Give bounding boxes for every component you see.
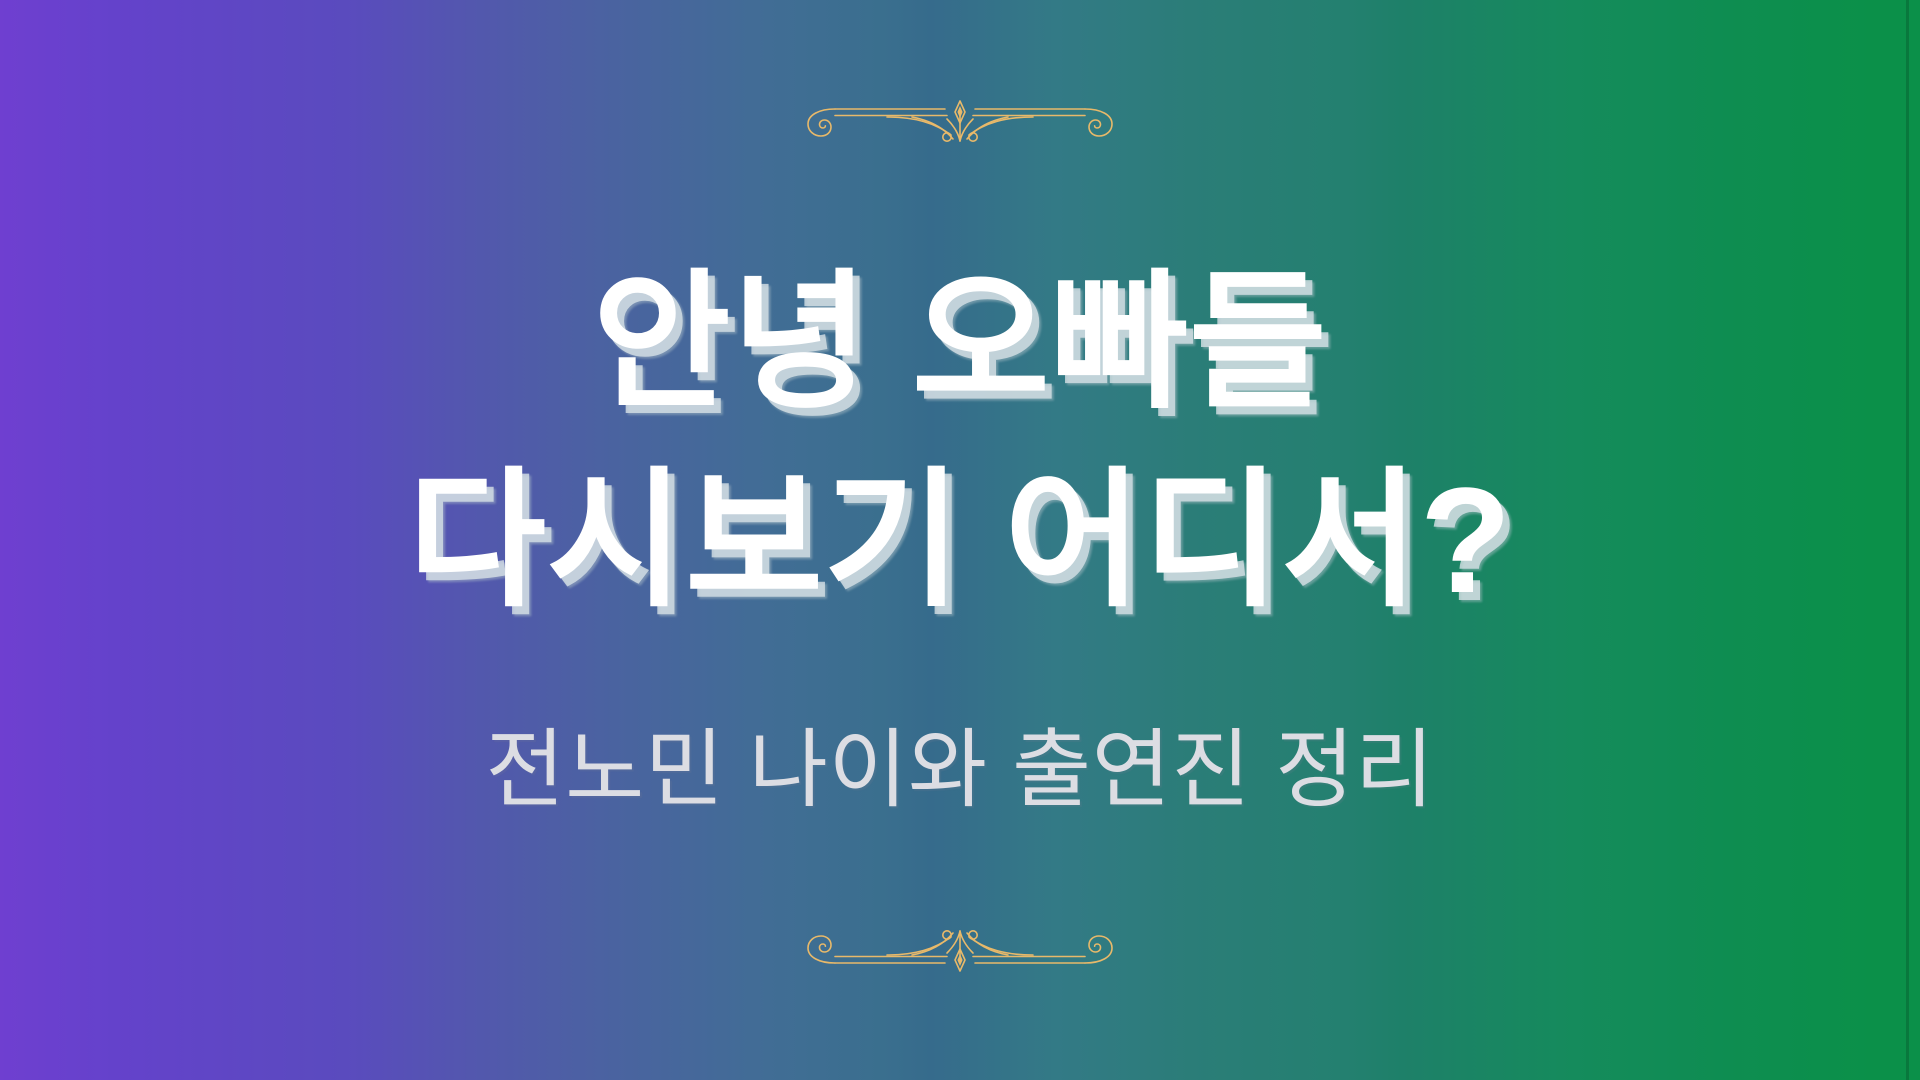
headline-line-2: 다시보기 어디서? [408,465,1512,615]
ornament-dot-left [943,931,951,939]
subtitle: 전노민 나이와 출연진 정리 [485,727,1434,813]
headline-line-1: 안녕 오빠들 [593,267,1328,417]
title-card: 안녕 오빠들 다시보기 어디서? 전노민 나이와 출연진 정리 [0,0,1920,1080]
ornament-bottom [0,925,1920,977]
ornament-dot-right [969,931,977,939]
content-stack: 안녕 오빠들 다시보기 어디서? 전노민 나이와 출연진 정리 [0,0,1920,1080]
filigree-divider-icon [795,925,1125,977]
